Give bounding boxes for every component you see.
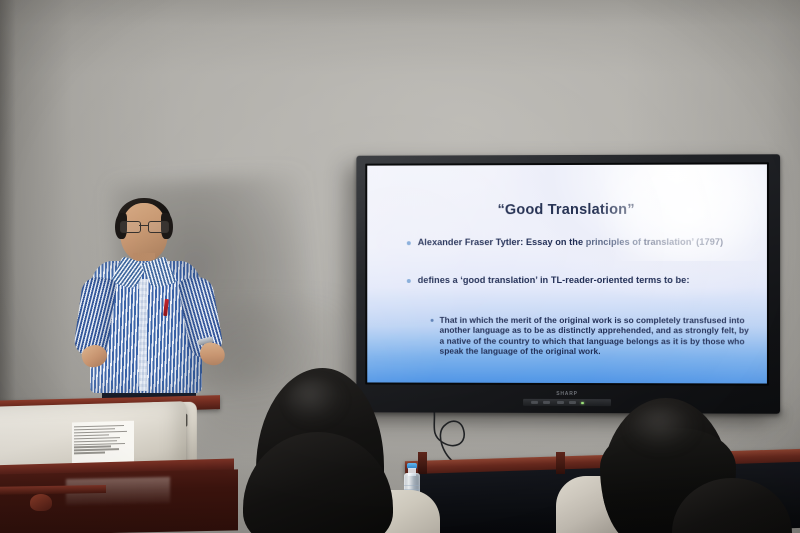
- lens-left: [120, 221, 141, 233]
- glasses-bridge: [139, 225, 148, 226]
- slide-bullet-2: defines a ‘good translation’ in TL-reade…: [407, 275, 747, 286]
- bench-post: [556, 452, 565, 474]
- volume-up-button[interactable]: [569, 401, 576, 404]
- bullet-dot-icon: [407, 241, 411, 245]
- brand-logo: SHARP: [556, 391, 577, 397]
- display-chin: SHARP: [356, 386, 780, 413]
- presenter: [60, 195, 270, 425]
- display-screen[interactable]: “Good Translation” Alexander Fraser Tytl…: [367, 164, 767, 383]
- slide-bullet-1-text: Alexander Fraser Tytler: Essay on the pr…: [418, 237, 723, 249]
- slide-bullet-3: That in which the merit of the original …: [431, 315, 751, 357]
- volume-down-button[interactable]: [557, 401, 564, 404]
- audience-hair-sheen-left: [286, 378, 346, 426]
- power-led-icon: [581, 402, 584, 405]
- eyeglasses-icon: [119, 221, 169, 232]
- slide-bullet-2-text: defines a ‘good translation’ in TL-reade…: [418, 275, 690, 286]
- flat-panel-display[interactable]: “Good Translation” Alexander Fraser Tytl…: [356, 154, 780, 414]
- slide-title: “Good Translation”: [367, 202, 767, 219]
- audience-hair-sheen-right: [628, 406, 698, 452]
- bullet-dot-icon: [407, 279, 411, 283]
- slide-bullet-3-text: That in which the merit of the original …: [440, 315, 751, 357]
- menu-button[interactable]: [531, 401, 538, 404]
- display-control-strip[interactable]: [523, 399, 611, 406]
- bullet-dot-icon: [431, 319, 434, 322]
- lens-right: [148, 221, 169, 233]
- input-button[interactable]: [543, 401, 550, 404]
- presentation-slide: “Good Translation” Alexander Fraser Tytl…: [367, 164, 767, 383]
- lectern-knob: [30, 494, 52, 511]
- photo-scene: “Good Translation” Alexander Fraser Tytl…: [0, 0, 800, 533]
- slide-bullet-1: Alexander Fraser Tytler: Essay on the pr…: [407, 237, 747, 249]
- shirt-placket: [139, 279, 147, 391]
